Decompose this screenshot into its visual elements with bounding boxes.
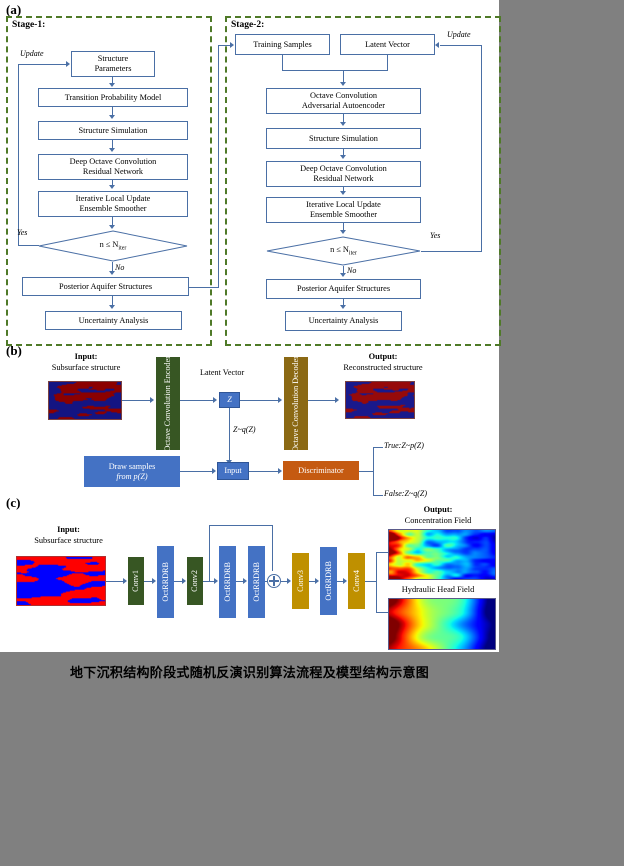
s2-conn-4	[343, 223, 344, 230]
c-hydraulic-head-field-image	[388, 598, 496, 650]
b-decoder-label: Octave Convolution Decoder	[291, 356, 300, 452]
s2-arrow-2	[340, 155, 346, 159]
b-conn-disc-brace	[359, 471, 373, 472]
s1-decision-text: n ≤ N	[100, 240, 119, 249]
c-output-title: Output:	[424, 505, 453, 514]
c-block-octrrdrb-1: OctRRDRB	[157, 546, 174, 618]
s1-conn-5	[112, 217, 113, 225]
panel-b-letter: (b)	[6, 343, 22, 359]
c-out-brace-v	[376, 552, 377, 612]
c-block-octrrdrb-4-label: OctRRDRB	[324, 561, 333, 601]
c-input-sub: Subsurface structure	[34, 536, 103, 545]
b-output-sub: Reconstructed structure	[343, 363, 422, 372]
s2-box-posterior-aquifer: Posterior Aquifer Structures	[266, 279, 421, 299]
s1-conn-3	[112, 140, 113, 148]
s1-box-posterior-aquifer: Posterior Aquifer Structures	[22, 277, 189, 296]
s2-box-octave-adversarial-autoencoder: Octave Convolution Adversarial Autoencod…	[266, 88, 421, 114]
b-decoder-block: Octave Convolution Decoder	[284, 357, 308, 450]
s2-arrow-1	[340, 122, 346, 126]
b-draw-line1: Draw samples	[109, 462, 156, 471]
s1-box-structure-parameters: Structure Parameters	[71, 51, 155, 77]
b-conn-z-dec	[240, 400, 278, 401]
s1-arrow-7	[109, 305, 115, 309]
b-encoder-block: Octave Convolution Encoder	[156, 357, 180, 450]
s1-box-transition-probability-model: Transition Probability Model	[38, 88, 188, 107]
c-block-octrrdrb-3: OctRRDRB	[248, 546, 265, 618]
b-brace-v	[373, 447, 374, 495]
c-arrow-1	[152, 578, 156, 584]
b-arrow-enc-z	[213, 397, 217, 403]
s1-sp-line2: Parameters	[95, 64, 132, 74]
c-block-octrrdrb-2-label: OctRRDRB	[223, 562, 232, 602]
s2-iles-line1: Iterative Local Update	[306, 200, 381, 210]
s1-conn-2	[112, 107, 113, 115]
s2-yes-v	[481, 45, 482, 252]
figure-caption-chinese: 地下沉积结构阶段式随机反演识别算法流程及模型结构示意图	[70, 662, 540, 681]
s1-yes-top-h	[18, 64, 66, 65]
s1-docrn-line1: Deep Octave Convolution	[70, 157, 157, 167]
s2-ocaa-line2: Adversarial Autoencoder	[302, 101, 385, 111]
c-conn-4	[236, 581, 243, 582]
s2-no-label: No	[347, 266, 356, 275]
b-draw-line2: from p(Z)	[116, 472, 147, 481]
s2-ts-v	[282, 55, 283, 71]
s1-docrn-line2: Residual Network	[83, 167, 143, 177]
c-input-title: Input:	[57, 525, 80, 534]
s2-conn-5	[343, 266, 344, 273]
c-conn-in-conv1	[106, 581, 123, 582]
s2-box-uncertainty-analysis: Uncertainty Analysis	[285, 311, 402, 331]
s1-conn-7	[112, 296, 113, 305]
c-output-caption: Output: Concentration Field	[378, 505, 498, 526]
b-conn-dec-out	[308, 400, 335, 401]
s2-box-iterative-local-update: Iterative Local Update Ensemble Smoother	[266, 197, 421, 223]
c-out-brace-bottom	[376, 612, 388, 613]
b-input-structure-image	[48, 381, 122, 420]
b-zq-label: Z~q(Z)	[233, 425, 256, 434]
s1-box-structure-simulation: Structure Simulation	[38, 121, 188, 140]
c-block-conv1: Conv1	[128, 557, 144, 605]
s2-yes-arrow	[435, 42, 439, 48]
s1-arrow-1	[109, 83, 115, 87]
b-conn-in-enc	[122, 400, 150, 401]
s2-arrow-3	[340, 191, 346, 195]
s2-docrn-line2: Residual Network	[313, 174, 373, 184]
c-skip-v-left	[209, 525, 210, 581]
b-conn-input-disc	[249, 471, 278, 472]
s1-box-deep-octave-residual: Deep Octave Convolution Residual Network	[38, 154, 188, 180]
s1-box-iterative-local-update: Iterative Local Update Ensemble Smoother	[38, 191, 188, 217]
b-true-label: True:Z~p(Z)	[384, 441, 424, 450]
b-arrow-input-disc	[278, 468, 282, 474]
s2-yes-h	[421, 251, 482, 252]
s1-yes-h	[18, 245, 39, 246]
c-conn-1	[144, 581, 152, 582]
s1-decision-sub: iter	[118, 246, 126, 252]
c-arrow-6	[287, 578, 291, 584]
s2-arrow-4	[340, 230, 346, 234]
s1-yes-arrow	[66, 61, 70, 67]
c-block-conv3-label: Conv3	[296, 570, 305, 592]
c-output-field-2-caption: Hydraulic Head Field	[378, 585, 498, 596]
s1-iles-line2: Ensemble Smoother	[79, 204, 146, 214]
s2-yes-label: Yes	[430, 231, 440, 240]
c-conn-out	[365, 581, 376, 582]
s2-ocaa-line1: Octave Convolution	[310, 91, 377, 101]
c-block-octrrdrb-1-label: OctRRDRB	[161, 562, 170, 602]
s2-arrow-5	[340, 273, 346, 277]
s1-yes-v	[18, 64, 19, 246]
b-discriminator-block: Discriminator	[283, 461, 359, 480]
s2-merge-h	[282, 70, 388, 71]
s1-yes-label: Yes	[17, 228, 27, 237]
s2-iles-line2: Ensemble Smoother	[310, 210, 377, 220]
s1-s2-link-h1	[189, 287, 219, 288]
c-block-conv1-label: Conv1	[131, 570, 140, 592]
b-brace-top	[373, 447, 383, 448]
c-out-brace-top	[376, 552, 388, 553]
b-output-caption: Output: Reconstructed structure	[325, 352, 441, 373]
b-encoder-label: Octave Convolution Encoder	[163, 356, 172, 452]
c-block-conv2-label: Conv2	[190, 570, 199, 592]
panel-c-letter: (c)	[6, 495, 20, 511]
c-concentration-field-image	[388, 529, 496, 580]
s2-box-latent-vector: Latent Vector	[340, 34, 435, 55]
c-output-field-1: Concentration Field	[405, 516, 472, 525]
s2-lv-v	[387, 55, 388, 71]
s2-decision-label: n ≤ Niter	[266, 245, 421, 257]
s1-arrow-3	[109, 148, 115, 152]
s1-no-label: No	[115, 263, 124, 272]
s2-arrow-6	[340, 305, 346, 309]
b-false-label: False:Z~q(Z)	[384, 489, 427, 498]
stage-1-title: Stage-1:	[12, 20, 45, 30]
s1-update-label: Update	[20, 49, 44, 58]
s2-docrn-line1: Deep Octave Convolution	[300, 164, 387, 174]
b-arrow-dec-out	[335, 397, 339, 403]
s2-merge-v	[343, 70, 344, 82]
c-conn-3	[203, 581, 214, 582]
figure-canvas: (a) Stage-1: Structure Parameters Transi…	[0, 0, 499, 652]
s1-arrow-4	[109, 185, 115, 189]
c-block-conv3: Conv3	[292, 553, 309, 609]
s2-decision-text: n ≤ N	[330, 245, 349, 254]
b-arrow-z-dec	[278, 397, 282, 403]
c-output-field-2: Hydraulic Head Field	[402, 585, 475, 594]
s2-decision-diamond: n ≤ Niter	[266, 236, 421, 266]
s1-s2-link-v	[218, 45, 219, 288]
s1-decision-diamond: n ≤ Niter	[38, 230, 188, 262]
s1-arrow-5	[109, 225, 115, 229]
s2-yes-top-h	[440, 45, 482, 46]
c-block-conv4-label: Conv4	[352, 570, 361, 592]
b-latent-vector-label: Latent Vector	[200, 368, 244, 377]
s2-box-training-samples: Training Samples	[235, 34, 330, 55]
c-block-octrrdrb-4: OctRRDRB	[320, 547, 337, 615]
c-skip-h	[209, 525, 273, 526]
c-arrow-3	[214, 578, 218, 584]
c-conn-2	[174, 581, 182, 582]
c-block-octrrdrb-3-label: OctRRDRB	[252, 562, 261, 602]
c-input-structure-image	[16, 556, 106, 606]
b-input-node: Input	[217, 462, 249, 480]
s2-decision-sub: iter	[349, 251, 357, 257]
b-latent-z-node: Z	[219, 392, 240, 408]
b-brace-bottom	[373, 495, 383, 496]
b-arrow-draw-input	[212, 468, 216, 474]
c-skip-v-right	[272, 525, 273, 571]
s2-update-label: Update	[447, 30, 471, 39]
c-arrow-2	[182, 578, 186, 584]
c-arrow-4	[243, 578, 247, 584]
b-conn-enc-z	[180, 400, 213, 401]
s1-s2-link-arrow	[230, 42, 234, 48]
stage-2-title: Stage-2:	[231, 20, 264, 30]
s1-decision-label: n ≤ Niter	[38, 240, 188, 252]
s1-sp-line1: Structure	[98, 54, 128, 64]
s1-iles-line1: Iterative Local Update	[76, 194, 151, 204]
s1-conn-6	[112, 262, 113, 271]
b-input-title: Input:	[75, 352, 98, 361]
s2-merge-arrow	[340, 82, 346, 86]
b-output-structure-image	[345, 381, 415, 419]
c-arrow-in-conv1	[123, 578, 127, 584]
c-block-conv4: Conv4	[348, 553, 365, 609]
s2-box-structure-simulation: Structure Simulation	[266, 128, 421, 149]
c-add-node	[267, 574, 281, 588]
b-arrow-in-enc	[150, 397, 154, 403]
b-output-title: Output:	[369, 352, 398, 361]
s1-box-uncertainty-analysis: Uncertainty Analysis	[45, 311, 182, 330]
c-block-octrrdrb-2: OctRRDRB	[219, 546, 236, 618]
c-arrow-8	[343, 578, 347, 584]
s2-conn-1	[343, 114, 344, 122]
b-input-sub: Subsurface structure	[52, 363, 121, 372]
b-draw-samples-block: Draw samples from p(Z)	[84, 456, 180, 487]
c-arrow-7	[315, 578, 319, 584]
b-conn-draw-input	[180, 471, 212, 472]
b-conn-z-input	[229, 408, 230, 460]
s1-arrow-2	[109, 115, 115, 119]
s2-box-deep-octave-residual: Deep Octave Convolution Residual Network	[266, 161, 421, 187]
b-input-caption: Input: Subsurface structure	[38, 352, 134, 373]
c-block-conv2: Conv2	[187, 557, 203, 605]
s1-s2-link-h2	[218, 45, 230, 46]
c-input-caption: Input: Subsurface structure	[16, 525, 121, 546]
